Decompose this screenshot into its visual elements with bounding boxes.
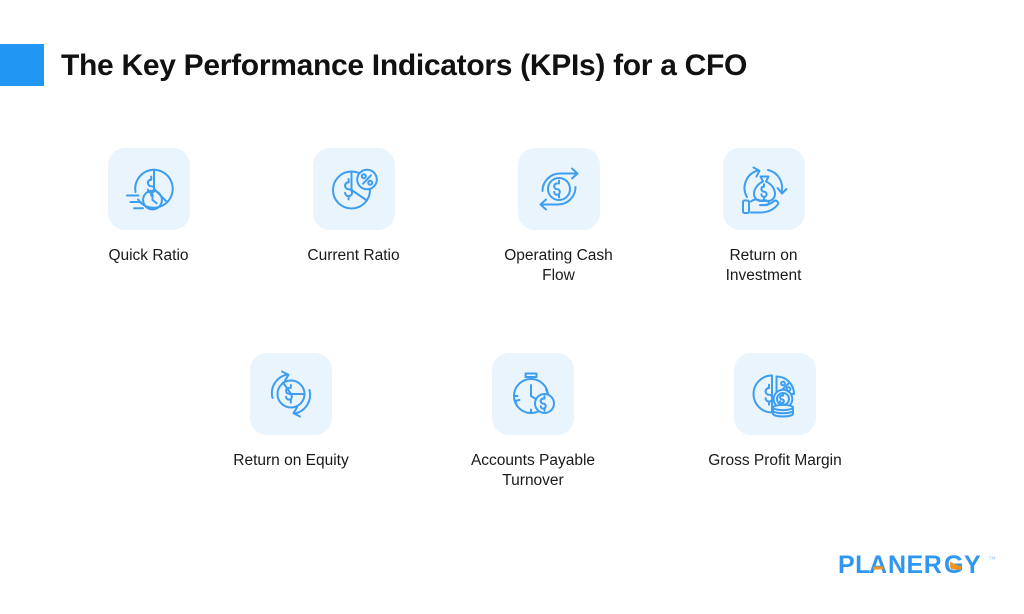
- kpi-label: Current Ratio: [307, 246, 399, 266]
- pie-chart-dollar-clock-icon: [108, 148, 190, 230]
- kpi-item-gross-profit-margin: Gross Profit Margin: [654, 353, 896, 492]
- page-header: The Key Performance Indicators (KPIs) fo…: [0, 44, 747, 86]
- kpi-item-quick-ratio: Quick Ratio: [46, 148, 251, 287]
- kpi-label: Quick Ratio: [108, 246, 188, 266]
- planergy-logo: PL A NER G Y ™: [838, 552, 996, 578]
- kpi-item-return-on-equity: Return on Equity: [170, 353, 412, 492]
- kpi-item-accounts-payable-turnover: Accounts Payable Turnover: [412, 353, 654, 492]
- planergy-wordmark-icon: PL A NER G Y: [838, 552, 986, 578]
- stopwatch-dollar-icon: [492, 353, 574, 435]
- kpi-item-return-on-investment: Return on Investment: [661, 148, 866, 287]
- kpi-label: Accounts Payable Turnover: [448, 451, 618, 492]
- kpi-row-top: Quick Ratio Current Ratio: [0, 148, 1024, 287]
- dollar-pie-refresh-arrows-icon: [250, 353, 332, 435]
- svg-text:A: A: [869, 552, 888, 578]
- kpi-label: Gross Profit Margin: [708, 451, 842, 471]
- pie-dollar-percent-coins-icon: [734, 353, 816, 435]
- page-title: The Key Performance Indicators (KPIs) fo…: [61, 49, 747, 82]
- trademark-symbol: ™: [988, 555, 996, 564]
- kpi-label: Return on Equity: [233, 451, 348, 471]
- kpi-item-operating-cash-flow: Operating Cash Flow: [456, 148, 661, 287]
- kpi-label: Operating Cash Flow: [489, 246, 629, 287]
- svg-text:NER: NER: [888, 552, 942, 578]
- kpi-label: Return on Investment: [694, 246, 834, 287]
- kpi-row-bottom: Return on Equity Accounts Payable Tu: [0, 353, 1024, 492]
- cash-flow-circular-arrows-icon: [518, 148, 600, 230]
- kpi-item-current-ratio: Current Ratio: [251, 148, 456, 287]
- accent-square-decoration: [0, 44, 44, 86]
- pie-chart-dollar-percent-icon: [313, 148, 395, 230]
- svg-text:PL: PL: [838, 552, 871, 578]
- money-bag-hand-arrows-icon: [723, 148, 805, 230]
- svg-text:Y: Y: [964, 552, 981, 578]
